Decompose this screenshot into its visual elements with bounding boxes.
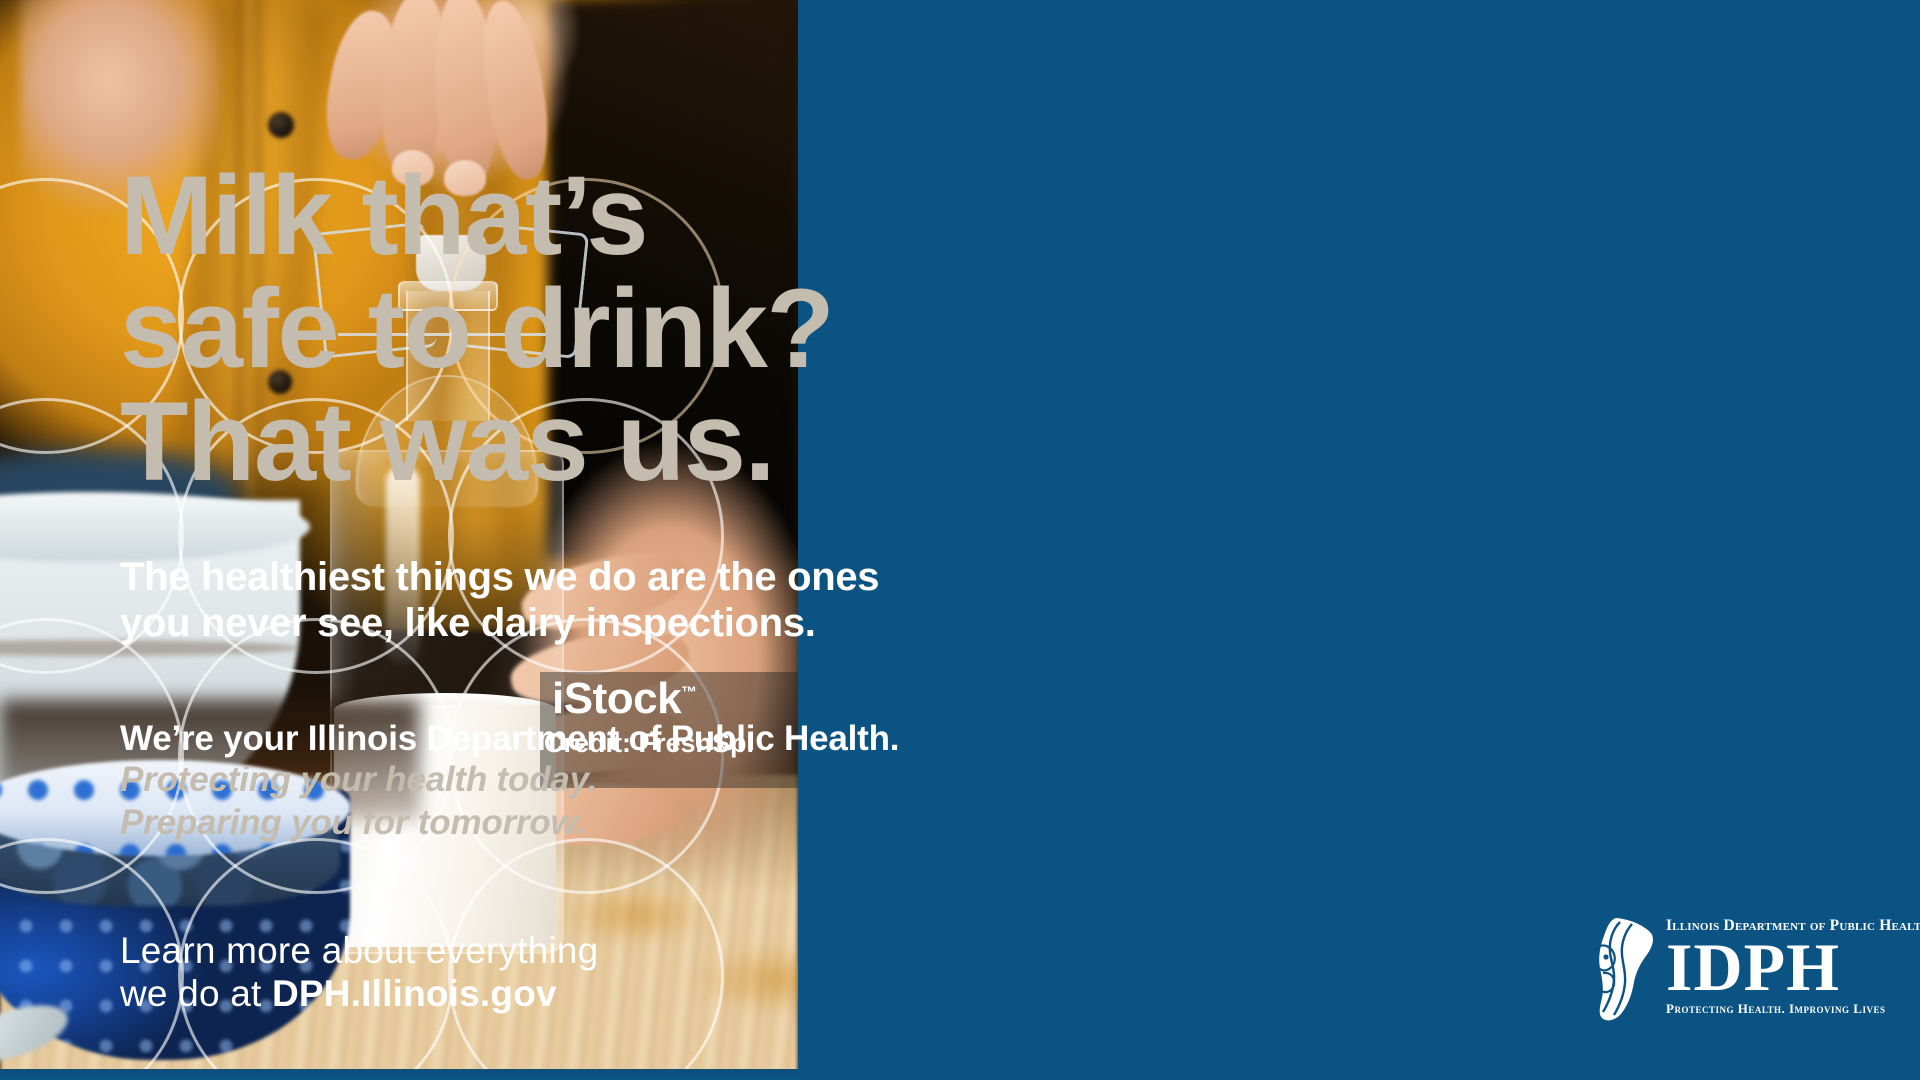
- tagline-italic-line-1: Protecting your health today.: [120, 759, 1070, 802]
- subheadline-line-1: The healthiest things we do are the ones: [120, 554, 1070, 600]
- tagline-agency-line: We’re your Illinois Department of Public…: [120, 718, 1070, 759]
- page-title: Milk that’s safe to drink? That was us.: [120, 159, 1100, 498]
- istock-brand-label: iStock: [552, 674, 681, 723]
- poster-canvas: iStock™ Credit: FreshSpl Milk that’s saf…: [0, 0, 1920, 1080]
- tagline-italic-line-2: Preparing you for tomorrow.: [120, 802, 1070, 845]
- learn-more-line-2: we do at DPH.Illinois.gov: [120, 973, 598, 1016]
- wood-grain-stain: [690, 945, 798, 1015]
- illinois-state-profile-icon: [1590, 918, 1662, 1022]
- learn-more-prefix: we do at: [120, 973, 272, 1014]
- headline-line-3: That was us.: [120, 385, 1100, 498]
- shirt-button: [268, 112, 294, 138]
- idph-acronym: IDPH: [1666, 936, 1880, 999]
- idph-logo-text: Illinois Department of Public Health IDP…: [1666, 916, 1880, 1015]
- headline-line-2: safe to drink?: [120, 272, 1100, 385]
- agency-tagline: We’re your Illinois Department of Public…: [120, 718, 1070, 845]
- website-url-link[interactable]: DPH.Illinois.gov: [272, 973, 557, 1014]
- idph-slogan: Protecting Health. Improving Lives: [1666, 1002, 1880, 1015]
- headline-line-1: Milk that’s: [120, 159, 1100, 272]
- learn-more-line-1: Learn more about everything: [120, 930, 598, 973]
- trademark-icon: ™: [681, 684, 697, 701]
- istock-brand-text: iStock™: [552, 674, 697, 724]
- idph-logo[interactable]: Illinois Department of Public Health IDP…: [1590, 916, 1880, 1024]
- subheadline: The healthiest things we do are the ones…: [120, 554, 1070, 647]
- learn-more-callout: Learn more about everything we do at DPH…: [120, 930, 598, 1016]
- subheadline-line-2: you never see, like dairy inspections.: [120, 600, 1070, 646]
- bottom-accent-strip: [0, 1069, 798, 1075]
